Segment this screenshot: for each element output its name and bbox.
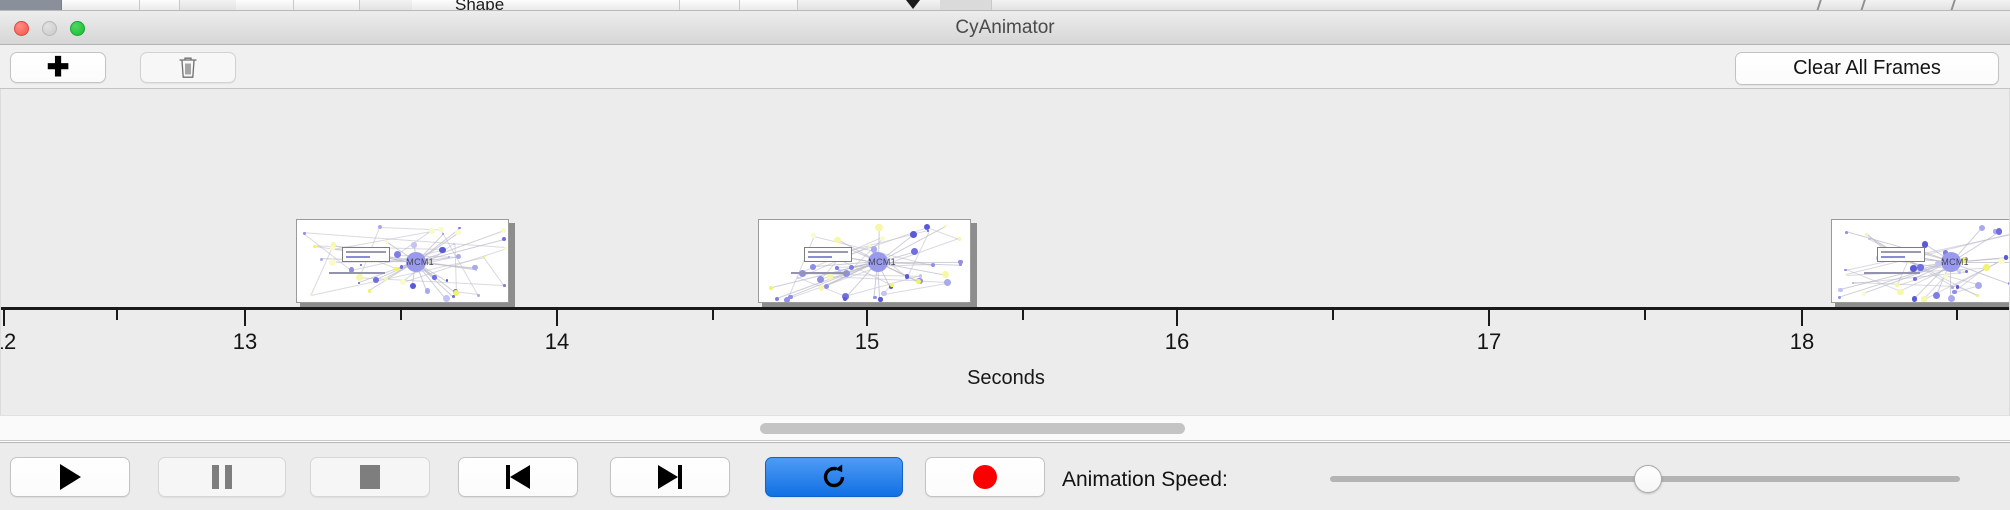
graph-node — [910, 231, 917, 238]
record-button[interactable] — [925, 457, 1045, 497]
graph-node — [835, 266, 839, 270]
graph-node — [834, 237, 841, 244]
graph-node — [1933, 292, 1940, 299]
graph-hub-label: MCM1 — [406, 257, 426, 267]
axis-tick-label: 12 — [0, 329, 45, 355]
graph-node — [411, 242, 416, 247]
graph-node — [2004, 255, 2008, 259]
axis-tick-label: 16 — [1136, 329, 1218, 355]
axis-tick-major — [3, 310, 5, 326]
graph-node — [1913, 277, 1917, 281]
axis-tick-minor — [116, 310, 118, 320]
graph-node — [924, 224, 930, 230]
graph-node — [1895, 283, 1900, 288]
bg-divider — [1950, 0, 1956, 11]
graph-node — [432, 275, 437, 280]
axis-tick-label: 14 — [516, 329, 598, 355]
animation-speed-slider-thumb[interactable] — [1634, 465, 1662, 493]
graph-node — [905, 274, 910, 279]
graph-node — [303, 232, 305, 234]
bg-segment — [412, 0, 680, 11]
play-button[interactable] — [10, 457, 130, 497]
graph-node — [504, 247, 507, 250]
graph-node — [1862, 292, 1866, 296]
scrollbar-thumb[interactable] — [760, 423, 1185, 434]
graph-node — [368, 289, 371, 292]
axis-title: Seconds — [1, 367, 2010, 390]
graph-node — [1868, 238, 1870, 240]
graph-node — [425, 288, 431, 294]
graph-node — [916, 279, 921, 284]
bg-segment — [740, 0, 798, 11]
graph-node — [788, 295, 792, 299]
graph-edge — [310, 245, 333, 295]
bg-triangle-icon — [906, 0, 920, 9]
graph-node — [881, 291, 886, 296]
graph-node — [1958, 271, 1961, 274]
loop-icon — [819, 462, 849, 492]
graph-node — [455, 230, 460, 235]
window-title: CyAnimator — [0, 11, 2010, 45]
axis-tick-major — [1801, 310, 1803, 326]
graph-node — [1910, 265, 1916, 271]
bg-divider — [1816, 0, 1822, 11]
frame-network-image: MCM1 — [1831, 219, 2010, 303]
graph-node — [502, 237, 506, 241]
graph-node — [456, 254, 461, 259]
graph-node — [942, 271, 949, 278]
graph-tooltip — [342, 247, 390, 262]
axis-tick-major — [1488, 310, 1490, 326]
axis-tick-minor — [1332, 310, 1334, 320]
graph-annotation — [329, 272, 385, 274]
skip-forward-icon — [658, 465, 682, 489]
timeline-axis — [1, 307, 2010, 310]
pause-button[interactable] — [158, 457, 286, 497]
graph-edge — [483, 257, 504, 286]
graph-hub-label: MCM1 — [1941, 257, 1961, 267]
toolbar: ✚ Clear All Frames — [0, 45, 2010, 89]
cyanimator-window: Shape CyAnimator ✚ Clear All Frames MCM1… — [0, 0, 2010, 510]
skip-to-end-button[interactable] — [610, 457, 730, 497]
graph-node — [452, 295, 455, 298]
graph-node — [1845, 231, 1848, 234]
graph-node — [878, 297, 882, 301]
graph-node — [1956, 285, 1959, 288]
animation-speed-label: Animation Speed: — [1062, 468, 1228, 492]
pause-icon — [212, 465, 232, 489]
graph-node — [843, 297, 847, 301]
graph-node — [410, 283, 416, 289]
skip-to-start-button[interactable] — [458, 457, 578, 497]
graph-node — [875, 224, 882, 231]
plus-icon: ✚ — [47, 57, 70, 79]
tooltip-text-line — [808, 256, 832, 258]
graph-node — [911, 248, 918, 255]
graph-hub-label: MCM1 — [868, 257, 888, 267]
axis-tick-label: 17 — [1448, 329, 1530, 355]
axis-tick-major — [1176, 310, 1178, 326]
frame-network-image: MCM1 — [758, 219, 971, 303]
graph-node — [330, 246, 335, 251]
clear-all-frames-label: Clear All Frames — [1793, 57, 1941, 80]
graph-node — [373, 277, 379, 283]
timeline-scrollbar[interactable] — [0, 415, 2010, 441]
graph-node — [501, 228, 506, 233]
graph-node — [438, 227, 444, 233]
graph-node — [1844, 269, 1847, 272]
title-bar[interactable]: CyAnimator — [0, 11, 2010, 45]
graph-node — [958, 237, 962, 241]
graph-annotation — [1864, 272, 1920, 274]
graph-node — [931, 263, 935, 267]
axis-tick-minor — [400, 310, 402, 320]
graph-node — [873, 296, 877, 300]
graph-node — [378, 225, 382, 229]
add-frame-button[interactable]: ✚ — [10, 52, 106, 83]
bg-segment — [940, 0, 992, 11]
record-icon — [973, 465, 997, 489]
frame-thumbnail[interactable]: MCM1 — [758, 219, 973, 305]
tooltip-text-line — [1881, 251, 1921, 253]
clear-all-frames-button[interactable]: Clear All Frames — [1735, 52, 1999, 85]
graph-node — [429, 228, 436, 235]
axis-tick-major — [866, 310, 868, 326]
graph-node — [503, 284, 506, 287]
graph-node — [384, 277, 388, 281]
graph-node — [394, 267, 398, 271]
graph-node — [313, 245, 317, 249]
graph-node — [1975, 282, 1982, 289]
bg-segment — [236, 0, 294, 11]
frame-thumbnail[interactable]: MCM1 — [1831, 219, 2010, 305]
loop-button[interactable] — [765, 457, 903, 497]
graph-node — [1838, 288, 1843, 293]
playback-control-bar: Animation Speed: — [0, 442, 2010, 510]
graph-node — [1865, 233, 1868, 236]
graph-node — [1976, 294, 1979, 297]
graph-node — [1998, 258, 2004, 264]
trash-icon — [178, 56, 198, 79]
graph-node — [443, 295, 450, 302]
graph-node — [400, 279, 406, 285]
graph-node — [360, 264, 363, 267]
graph-node — [1897, 289, 1903, 295]
tooltip-text-line — [346, 256, 370, 258]
graph-tooltip — [1877, 247, 1925, 262]
graph-node — [1979, 225, 1985, 231]
frame-thumbnail[interactable]: MCM1 — [296, 219, 511, 305]
bg-segment — [680, 0, 740, 11]
graph-node — [880, 236, 885, 241]
play-icon — [60, 464, 81, 490]
tooltip-text-line — [808, 251, 848, 253]
graph-node — [329, 259, 336, 266]
axis-tick-label: 15 — [826, 329, 908, 355]
graph-node — [919, 274, 922, 277]
graph-node — [400, 265, 404, 269]
graph-node — [1921, 296, 1927, 302]
axis-tick-label: 13 — [204, 329, 286, 355]
graph-node — [1943, 274, 1948, 279]
axis-tick-minor — [712, 310, 714, 320]
bg-segment — [62, 0, 140, 11]
axis-tick-minor — [1022, 310, 1024, 320]
graph-node — [944, 225, 947, 228]
stop-icon — [360, 465, 380, 489]
graph-node — [1952, 290, 1956, 294]
graph-node — [944, 279, 951, 286]
tooltip-text-line — [346, 251, 386, 253]
tooltip-text-line — [1881, 256, 1905, 258]
axis-tick-major — [244, 310, 246, 326]
graph-node — [1917, 264, 1923, 270]
axis-tick-minor — [1644, 310, 1646, 320]
graph-node — [1838, 296, 1841, 299]
background-window-label: Shape — [455, 0, 504, 11]
graph-node — [472, 265, 477, 270]
graph-node — [320, 258, 323, 261]
delete-frame-button[interactable] — [140, 52, 236, 83]
stop-button[interactable] — [310, 457, 430, 497]
graph-node — [477, 294, 481, 298]
bg-segment — [294, 0, 360, 11]
background-window-strip: Shape — [0, 0, 2010, 11]
graph-node — [775, 297, 779, 301]
bg-divider — [1860, 0, 1866, 11]
bg-segment — [140, 0, 180, 11]
graph-node — [959, 263, 962, 266]
axis-tick-label: 18 — [1761, 329, 1843, 355]
graph-node — [1965, 270, 1968, 273]
graph-node — [1912, 296, 1918, 302]
graph-node — [769, 286, 773, 290]
graph-annotation — [791, 272, 847, 274]
graph-node — [1951, 286, 1953, 288]
graph-node — [1983, 264, 1990, 271]
graph-node — [385, 240, 388, 243]
graph-node — [1948, 295, 1955, 302]
skip-back-icon — [506, 465, 530, 489]
graph-tooltip — [804, 247, 852, 262]
graph-node — [810, 264, 816, 270]
timeline-panel[interactable]: MCM1MCM1MCM1 12131415161718 Seconds — [0, 89, 2010, 415]
axis-tick-major — [556, 310, 558, 326]
bg-segment — [0, 0, 62, 11]
axis-tick-minor — [1956, 310, 1958, 320]
graph-node — [1996, 228, 2003, 235]
frame-network-image: MCM1 — [296, 219, 509, 303]
graph-node — [890, 283, 894, 287]
